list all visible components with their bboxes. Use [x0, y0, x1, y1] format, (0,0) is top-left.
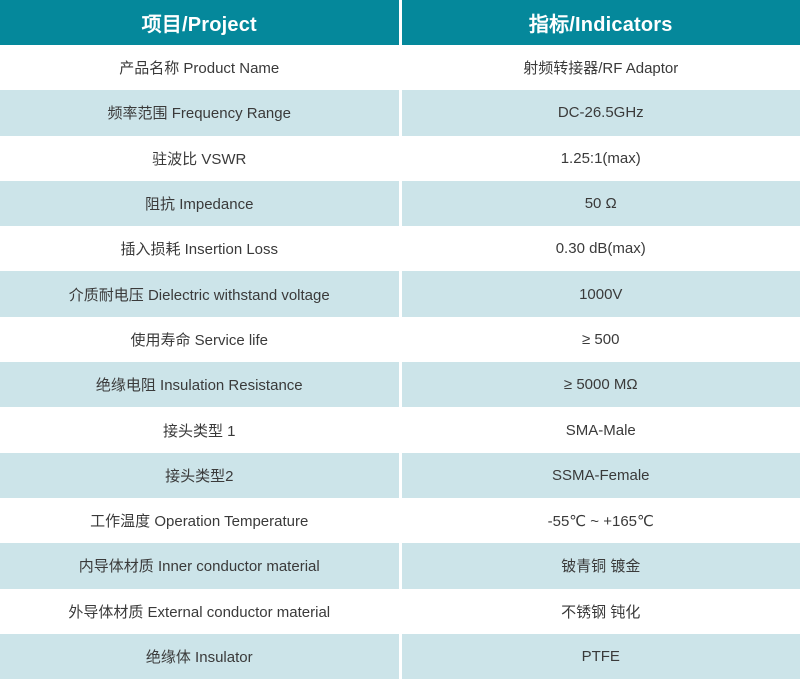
table-body: 产品名称 Product Name射频转接器/RF Adaptor频率范围 Fr…	[0, 45, 800, 679]
table-row: 阻抗 Impedance50 Ω	[0, 181, 800, 226]
table-row: 绝缘电阻 Insulation Resistance≥ 5000 MΩ	[0, 362, 800, 407]
cell-project: 频率范围 Frequency Range	[0, 90, 400, 135]
column-header-indicator: 指标/Indicators	[400, 0, 800, 45]
cell-project: 插入损耗 Insertion Loss	[0, 226, 400, 271]
cell-indicator: 射频转接器/RF Adaptor	[400, 45, 800, 90]
cell-indicator: 铍青铜 镀金	[400, 543, 800, 588]
table-row: 介质耐电压 Dielectric withstand voltage1000V	[0, 271, 800, 316]
table-row: 产品名称 Product Name射频转接器/RF Adaptor	[0, 45, 800, 90]
table-row: 绝缘体 InsulatorPTFE	[0, 634, 800, 679]
table-header: 项目/Project 指标/Indicators	[0, 0, 800, 45]
cell-project: 产品名称 Product Name	[0, 45, 400, 90]
cell-indicator: SSMA-Female	[400, 453, 800, 498]
cell-project: 接头类型 1	[0, 407, 400, 452]
cell-project: 外导体材质 External conductor material	[0, 589, 400, 634]
table-row: 使用寿命 Service life≥ 500	[0, 317, 800, 362]
cell-project: 接头类型2	[0, 453, 400, 498]
table-row: 内导体材质 Inner conductor material铍青铜 镀金	[0, 543, 800, 588]
table-row: 外导体材质 External conductor material不锈钢 钝化	[0, 589, 800, 634]
cell-indicator: 0.30 dB(max)	[400, 226, 800, 271]
cell-project: 工作温度 Operation Temperature	[0, 498, 400, 543]
cell-project: 驻波比 VSWR	[0, 136, 400, 181]
cell-project: 使用寿命 Service life	[0, 317, 400, 362]
table-row: 接头类型 1SMA-Male	[0, 407, 800, 452]
cell-indicator: ≥ 500	[400, 317, 800, 362]
table-row: 频率范围 Frequency RangeDC-26.5GHz	[0, 90, 800, 135]
table-row: 接头类型2SSMA-Female	[0, 453, 800, 498]
table-header-row: 项目/Project 指标/Indicators	[0, 0, 800, 45]
cell-indicator: 不锈钢 钝化	[400, 589, 800, 634]
cell-project: 内导体材质 Inner conductor material	[0, 543, 400, 588]
column-header-project: 项目/Project	[0, 0, 400, 45]
cell-project: 绝缘电阻 Insulation Resistance	[0, 362, 400, 407]
cell-indicator: ≥ 5000 MΩ	[400, 362, 800, 407]
cell-indicator: DC-26.5GHz	[400, 90, 800, 135]
specification-table: 项目/Project 指标/Indicators 产品名称 Product Na…	[0, 0, 800, 679]
table-row: 驻波比 VSWR1.25:1(max)	[0, 136, 800, 181]
table-row: 插入损耗 Insertion Loss0.30 dB(max)	[0, 226, 800, 271]
cell-indicator: 50 Ω	[400, 181, 800, 226]
cell-indicator: -55℃ ~ +165℃	[400, 498, 800, 543]
cell-indicator: PTFE	[400, 634, 800, 679]
cell-project: 绝缘体 Insulator	[0, 634, 400, 679]
table-row: 工作温度 Operation Temperature-55℃ ~ +165℃	[0, 498, 800, 543]
cell-project: 阻抗 Impedance	[0, 181, 400, 226]
cell-project: 介质耐电压 Dielectric withstand voltage	[0, 271, 400, 316]
cell-indicator: 1000V	[400, 271, 800, 316]
cell-indicator: SMA-Male	[400, 407, 800, 452]
cell-indicator: 1.25:1(max)	[400, 136, 800, 181]
